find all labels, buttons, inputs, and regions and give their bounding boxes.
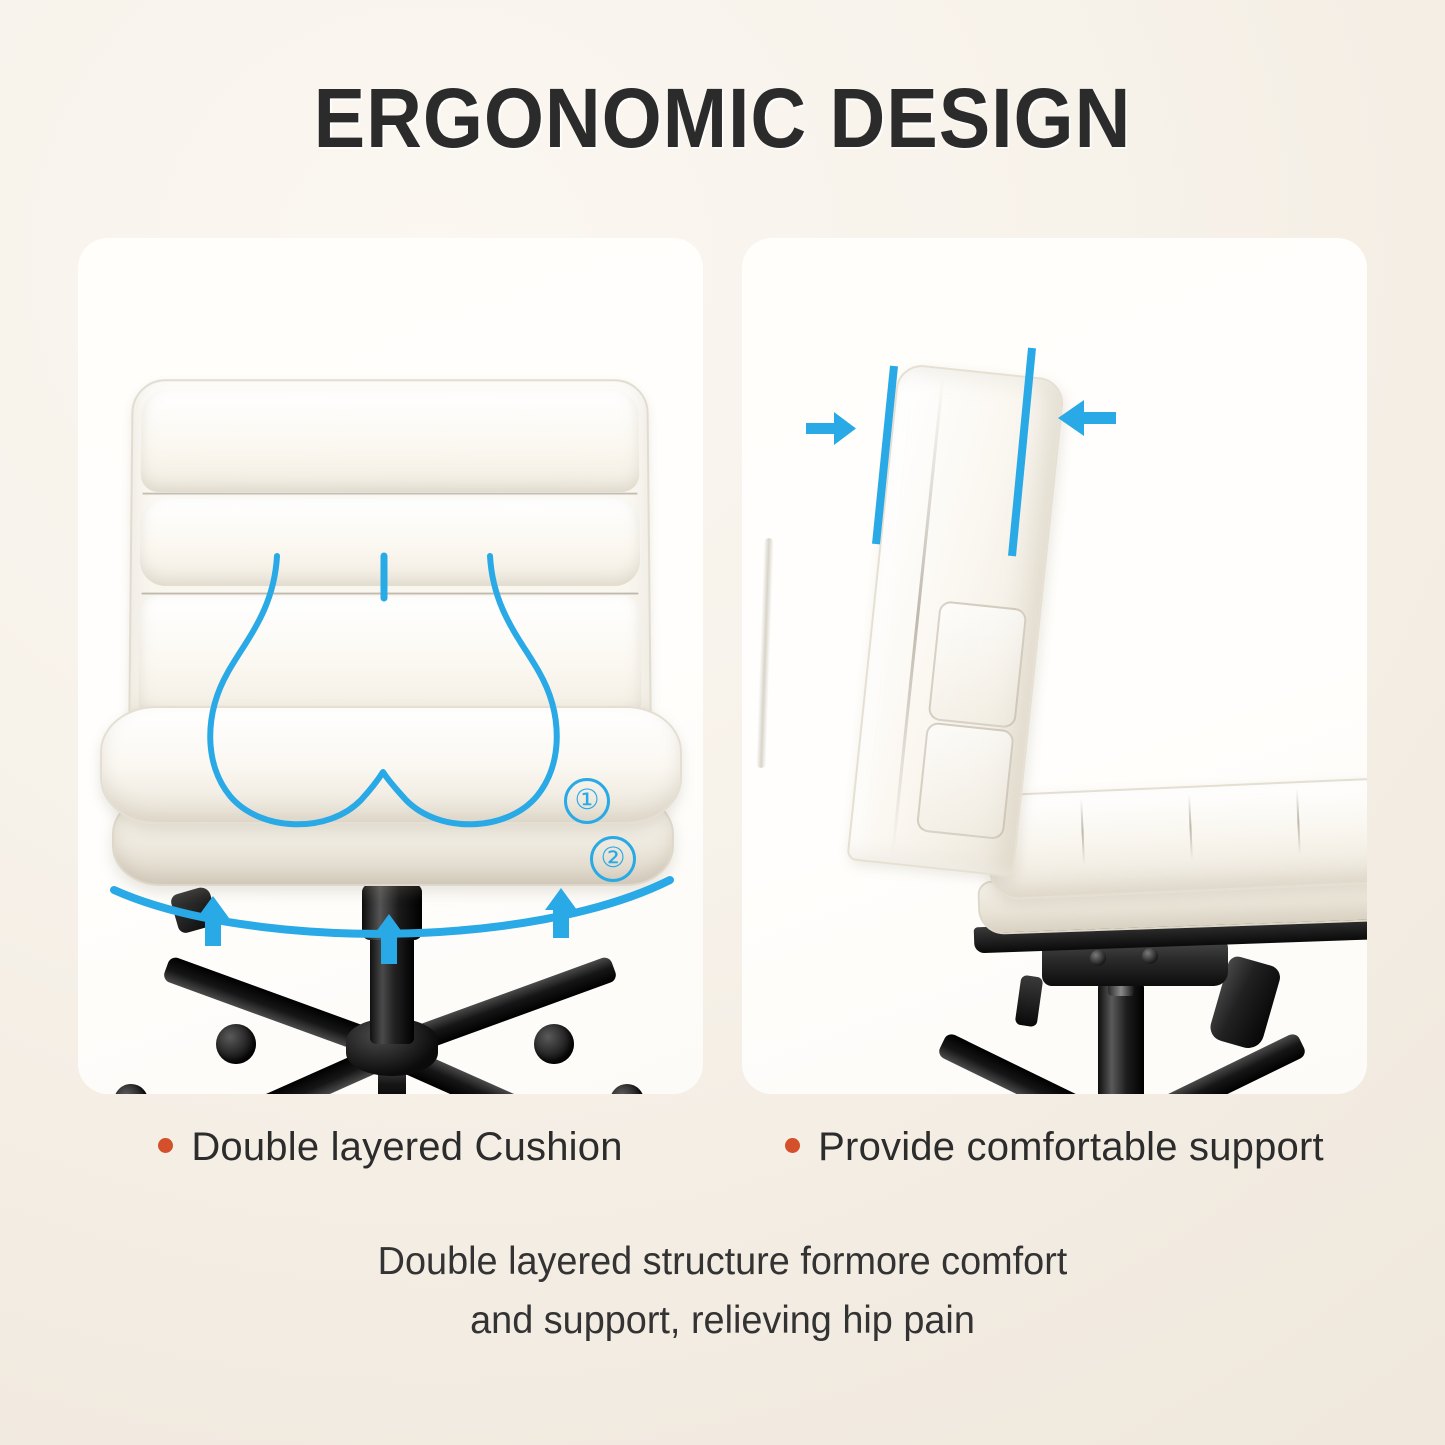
arrow-right-icon [806,412,856,445]
tilt-knob [169,885,218,934]
callout-badge-2: ② [590,836,636,882]
panel-front-view-inner: ① ② [78,238,703,1094]
backrest-zipper [756,538,774,768]
callout-badge-1: ① [564,778,610,824]
caption-side-text: Provide comfortable support [818,1125,1324,1170]
backrest-pad [138,596,641,721]
panel-side-view [742,238,1367,1094]
backrest-pad [141,389,640,492]
page-title: ERGONOMIC DESIGN [58,76,1387,160]
caster-wheel [114,1084,148,1094]
seat-seam [1080,799,1085,865]
backrest-seam [143,492,638,495]
footer-line-2: and support, relieving hip pain [22,1291,1424,1350]
chair-side-illustration [742,238,1367,1094]
footer-line-1: Double layered structure formore comfort [22,1232,1424,1291]
backrest-tuft-panel [927,600,1027,729]
panel-front-view: ① ② [78,238,703,1094]
panel-side-view-inner [742,238,1367,1094]
mechanism-screw [1142,948,1158,964]
chair-base-leg [1116,1032,1307,1094]
backrest [128,379,652,724]
backrest-pad [140,498,641,586]
caption-side-view: Provide comfortable support [742,1112,1367,1182]
arrow-up-icon [545,888,577,938]
bullet-dot-icon [158,1138,173,1153]
mechanism-screw [1090,950,1106,966]
caption-front-text: Double layered Cushion [191,1125,622,1170]
caster-wheel [216,1024,256,1064]
caption-front-view: Double layered Cushion [78,1112,703,1182]
height-adjust-lever [1015,975,1044,1028]
seat-seam [1188,794,1193,860]
backrest-seam [142,592,639,595]
infographic-root: ERGONOMIC DESIGN [0,0,1445,1445]
seat-seam [1296,789,1301,855]
seat-cushion [986,777,1367,900]
arrow-left-icon [1058,400,1116,436]
caster-wheel [610,1084,644,1094]
bullet-dot-icon [785,1138,800,1153]
backrest-tuft-panel [916,722,1015,841]
gas-cylinder [1098,980,1144,1094]
footer-description: Double layered structure formore comfort… [22,1232,1424,1351]
cylinder-collar [362,884,422,940]
caster-wheel [534,1024,574,1064]
chair-front-illustration: ① ② [78,238,703,1094]
